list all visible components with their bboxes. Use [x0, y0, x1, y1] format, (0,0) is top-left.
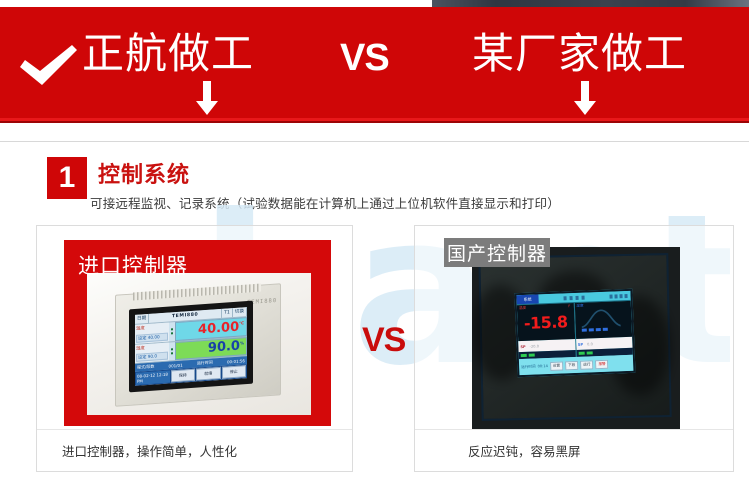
section-subtitle: 可接远程监视、记录系统（试验数据能在计算机上通过上位机软件直接显示和打印） — [90, 193, 560, 212]
dlcd-value-area: 温度 F -15.8 SP -20.0 — [517, 301, 633, 359]
dlcd-temp-sp-label: SP — [520, 344, 525, 348]
dlcd-temp-value-box: 温度 F -15.8 — [517, 303, 575, 341]
lcd-channel-label: T1 — [222, 308, 233, 318]
dlcd-temp-tag: 温度 — [519, 306, 526, 311]
right-panel-caption-bar: 反应迟钝，容易黑屏 — [415, 429, 733, 471]
dlcd-humi-value-box: 湿度 — [574, 301, 632, 339]
lcd-temp-value: 40.00 — [198, 319, 239, 337]
section-title: 控制系统 — [98, 157, 190, 189]
domestic-controller-device: 系统 温度 F -15.8 — [478, 253, 671, 421]
dlcd-temp-column: 温度 F -15.8 SP -20.0 — [517, 303, 577, 359]
lcd-temp-labels: 温度 设定 40.00 — [135, 322, 169, 343]
hero-right-label: 某厂家做工 — [472, 33, 687, 75]
left-product-photo: TEMI880 日期 TEMI880 T1 切换 温度 — [87, 273, 311, 415]
hero-underline — [0, 118, 749, 123]
comparison-vs-label: VS — [362, 321, 405, 360]
dlcd-humi-sp-value: 0.0 — [587, 342, 593, 346]
promo-page: 正航做工 VS 某厂家做工 1 控制系统 可接远程监视、记录系统（试验数据能在计… — [0, 0, 749, 482]
right-panel-caption: 反应迟钝，容易黑屏 — [468, 441, 581, 460]
dlcd-temp-sp-value: -20.0 — [530, 344, 539, 348]
section-number-badge: 1 — [47, 157, 87, 199]
lcd-date-button[interactable]: 日期 — [135, 314, 149, 324]
left-panel-title: 进口控制器 — [78, 250, 188, 280]
dlcd-trend-curve — [580, 306, 620, 329]
lcd-humi-unit: % — [240, 338, 244, 345]
hero-left-label: 正航做工 — [82, 33, 254, 75]
dlcd-humi-column: 湿度 SP 0.0 — [574, 301, 633, 357]
left-panel-caption-bar: 进口控制器，操作简单，人性化 — [37, 429, 352, 471]
dlcd-temp-value: -15.8 — [524, 312, 568, 333]
dlcd-alarm-button[interactable]: 报警 — [595, 359, 609, 368]
dlcd-status-label: 运行时间 — [521, 364, 536, 370]
lcd-program-value: 001/01 — [169, 362, 183, 368]
lcd-stop-button[interactable]: 停止 — [222, 365, 247, 379]
section-divider — [0, 141, 749, 142]
top-dark-strip — [432, 0, 749, 7]
lcd-temp-label: 温度 — [136, 323, 168, 331]
lcd-hold-button[interactable]: 保持 — [171, 369, 196, 383]
comparison-panel-left: 进口控制器 TEMI880 日期 TEMI880 T1 切换 — [36, 225, 353, 472]
dlcd-next-button[interactable]: 下段 — [565, 360, 579, 369]
dlcd-bottom-bar: 运行时间 00:14 设置 下段 运行 报警 — [519, 355, 634, 375]
lcd-temp-setpoint: 设定 40.00 — [136, 332, 168, 342]
dlcd-humi-digits — [581, 328, 607, 332]
lcd-humi-value: 90.0 — [208, 339, 240, 356]
lcd-ready-button[interactable]: 就绪 — [196, 367, 221, 381]
arrow-down-icon — [196, 81, 218, 115]
dlcd-temp-flag: F — [568, 304, 570, 308]
right-panel-title: 国产控制器 — [444, 238, 550, 267]
dlcd-status-value: 00:14 — [537, 364, 548, 368]
right-product-photo: 系统 温度 F -15.8 — [472, 247, 680, 429]
lcd-runtime-value: 00:01:56 — [227, 358, 245, 364]
device-screen-bezel: 日期 TEMI880 T1 切换 温度 设定 40.00 — [129, 301, 253, 393]
arrow-down-icon — [574, 81, 596, 115]
device-lcd-screen: 日期 TEMI880 T1 切换 温度 设定 40.00 — [135, 307, 247, 386]
imported-controller-device: TEMI880 日期 TEMI880 T1 切换 温度 — [107, 283, 289, 407]
dlcd-menu-button[interactable]: 系统 — [516, 294, 538, 304]
lcd-humi-label: 湿度 — [136, 343, 168, 351]
dlcd-humi-sp-label: SP — [578, 342, 583, 346]
dlcd-run-button[interactable]: 运行 — [580, 360, 594, 369]
lcd-temp-unit: ℃ — [239, 318, 244, 325]
lcd-datetime-display: 08-02-12 12:18 PM — [136, 371, 170, 385]
dlcd-setting-button[interactable]: 设置 — [550, 361, 564, 370]
left-panel-caption: 进口控制器，操作简单，人性化 — [62, 441, 237, 460]
check-mark-icon — [18, 43, 80, 87]
dlcd-status-icons — [609, 293, 630, 298]
lcd-humi-setpoint: 设定 90.0 — [136, 352, 168, 362]
lcd-switch-button[interactable]: 切换 — [233, 307, 247, 317]
lcd-humi-labels: 湿度 设定 90.0 — [135, 342, 169, 363]
hero-banner: 正航做工 VS 某厂家做工 — [0, 7, 749, 118]
comparison-panel-right: 国产控制器 系统 — [414, 225, 734, 472]
left-photo-frame: 进口控制器 TEMI880 日期 TEMI880 T1 切换 — [64, 240, 331, 426]
dlcd-title-area — [539, 294, 610, 301]
hero-vs-label: VS — [340, 37, 389, 80]
domestic-lcd-screen: 系统 温度 F -15.8 — [514, 289, 635, 377]
